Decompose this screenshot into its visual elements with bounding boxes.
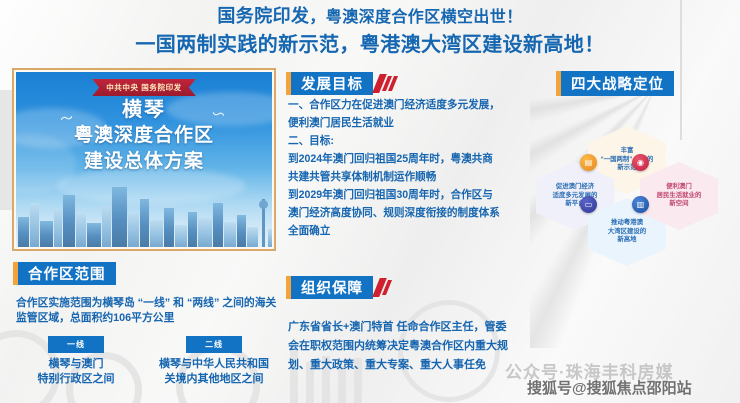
dev-goals-line: 便利澳门居民生活就业: [288, 114, 538, 132]
section-title-org-guarantee: 组织保障: [291, 276, 373, 299]
dev-goals-body: 一、合作区力在促进澳门经济适度多元发展， 便利澳门居民生活就业 二、目标: 到2…: [288, 96, 538, 240]
hexagon-bottom-line2: 大湾区建设的: [608, 228, 646, 237]
badge-caption-line1: 横琴与中华人民共和国: [140, 357, 288, 372]
badge-pill-first-line: 一线: [48, 336, 104, 353]
section-title-coop-scope: 合作区范围: [18, 262, 116, 285]
badge-caption-line2: 关境内其他地区之间: [140, 372, 288, 387]
poster-title-line1: 横琴: [16, 98, 272, 123]
red-slash-decoration: [376, 276, 391, 299]
monitor-icon: ▭: [580, 196, 597, 213]
badge-caption-line2: 特别行政区之间: [16, 372, 136, 387]
headline-line1-part2: ，粤澳深度合作区横空出世！: [309, 9, 522, 26]
section-header-org-guarantee: 组织保障: [286, 276, 391, 299]
hexagon-bottom-line3: 新高地: [608, 236, 646, 245]
page-headline: 国务院印发，粤澳深度合作区横空出世！ 一国两制实践的新示范，粤港澳大湾区建设新高…: [0, 2, 740, 60]
dev-goals-line: 共建共管共享体制机制运作顺畅: [288, 168, 538, 186]
watermark-sohu: 搜狐号@搜狐焦点邵阳站: [527, 377, 692, 398]
coop-scope-body: 合作区实施范围为横琴岛 “一线” 和 “两线” 之间的海关监管区域，总面积约10…: [16, 296, 278, 326]
org-guarantee-body: 广东省省长+澳门特首 任命合作区主任，管委 会在职权范围内统筹决定粤澳合作区内重…: [288, 318, 538, 375]
poster-artwork: 中共中央 国务院印发 〜 〜 横琴 粤澳深度合作区 建设总体方案: [16, 72, 272, 247]
dev-goals-line: 一、合作区力在促进澳门经济适度多元发展，: [288, 96, 538, 114]
badge-group-second-line: 二线 横琴与中华人民共和国 关境内其他地区之间: [140, 336, 288, 387]
headline-line1-part1: 国务院印发: [217, 6, 309, 26]
section-header-coop-scope: 合作区范围: [13, 262, 116, 285]
red-slash-decoration: [376, 72, 397, 95]
hexagon-top-line1: 丰富: [601, 147, 654, 156]
badge-caption-line1: 横琴与澳门: [16, 357, 136, 372]
poster-title: 横琴 粤澳深度合作区 建设总体方案: [16, 98, 272, 175]
hexagon-right-line3: 新空间: [657, 200, 702, 209]
hexagon-left-line1: 促进澳门经济: [553, 183, 598, 192]
badge-pill-second-line: 二线: [186, 336, 242, 353]
infographic-page: 国务院印发，粤澳深度合作区横空出世！ 一国两制实践的新示范，粤港澳大湾区建设新高…: [0, 0, 740, 403]
org-guarantee-line: 划、重大政策、重大专案、重大人事任免: [288, 356, 538, 375]
poster-ribbon: 中共中央 国务院印发: [92, 79, 196, 96]
section-title-dev-goals: 发展目标: [291, 72, 373, 95]
poster-cityscape: [16, 183, 272, 247]
hexagon-bottom-line1: 推动粤港澳: [608, 219, 646, 228]
badge-group-first-line: 一线 横琴与澳门 特别行政区之间: [16, 336, 136, 387]
headline-line2-part1: 一国两制实践的新示范: [135, 34, 339, 56]
shield-icon: ◉: [632, 154, 649, 171]
poster-title-line2: 粤澳深度合作区: [16, 123, 272, 149]
section-header-strategy: 四大战略定位: [556, 71, 674, 96]
document-icon: ▤: [580, 154, 597, 171]
dev-goals-line: 二、目标:: [288, 132, 538, 150]
org-guarantee-line: 会在职权范围内统筹决定粤澳合作区内重大规: [288, 337, 538, 356]
section-title-strategy: 四大战略定位: [561, 71, 674, 96]
hexagon-right-line2: 居民生活就业的: [657, 192, 702, 201]
org-guarantee-line: 广东省省长+澳门特首 任命合作区主任，管委: [288, 318, 538, 337]
dev-goals-line: 到2024年澳门回归祖国25周年时，粤澳共商: [288, 150, 538, 168]
plan-poster: 中共中央 国务院印发 〜 〜 横琴 粤澳深度合作区 建设总体方案: [12, 68, 276, 251]
dev-goals-line: 到2029年澳门回归祖国30周年时，合作区与: [288, 186, 538, 204]
hexagon-right-line1: 便利澳门: [657, 183, 702, 192]
chart-bar-icon: ▥: [632, 196, 649, 213]
poster-title-line3: 建设总体方案: [16, 149, 272, 175]
dev-goals-line: 全面确立: [288, 222, 538, 240]
headline-line2-part2: ，粤港澳大湾区建设新高地！: [339, 34, 604, 56]
strategy-hexagon-diagram: 丰富 “一国两制” 实践的 新示范 促进澳门经济 适度多元发展的 新平台 推动粤…: [536, 126, 740, 276]
dev-goals-line: 澳门经济高度协同、规则深度衔接的制度体系: [288, 204, 538, 222]
section-header-dev-goals: 发展目标: [286, 72, 397, 95]
